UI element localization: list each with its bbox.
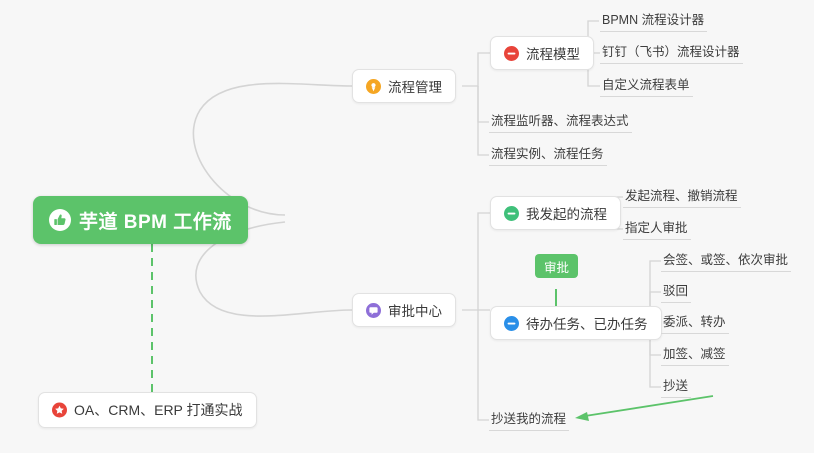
minus-circle-icon: [504, 46, 519, 61]
leaf-reject[interactable]: 驳回: [661, 281, 691, 303]
minus-circle-icon: [504, 206, 519, 221]
leaf-bpmn-designer[interactable]: BPMN 流程设计器: [600, 10, 707, 32]
node-label: 待办任务、已办任务: [526, 313, 648, 333]
branch-label: 流程管理: [388, 76, 442, 96]
leaf-dingtalk-designer[interactable]: 钉钉（飞书）流程设计器: [600, 42, 743, 64]
leaf-cc-to-me[interactable]: 抄送我的流程: [489, 409, 569, 431]
thumbs-up-icon: [49, 209, 71, 231]
leaf-assign-approver[interactable]: 指定人审批: [623, 218, 691, 240]
mindmap-canvas: 芋道 BPM 工作流 流程管理 流程模型 BPMN 流程设计器 钉钉（飞书）流程…: [0, 0, 814, 453]
chat-bubble-icon: [366, 303, 381, 318]
location-pin-icon: [366, 79, 381, 94]
node-label: 流程模型: [526, 43, 580, 63]
annotation-integration-card[interactable]: OA、CRM、ERP 打通实战: [38, 392, 257, 428]
branch-node-process-management[interactable]: 流程管理: [352, 69, 456, 103]
root-node[interactable]: 芋道 BPM 工作流: [33, 196, 248, 244]
annotation-approval-pill: 审批: [535, 254, 578, 278]
branch-node-approval-center[interactable]: 审批中心: [352, 293, 456, 327]
star-circle-icon: [52, 403, 67, 418]
root-label: 芋道 BPM 工作流: [79, 207, 232, 234]
node-process-model[interactable]: 流程模型: [490, 36, 594, 70]
leaf-start-cancel-process[interactable]: 发起流程、撤销流程: [623, 186, 741, 208]
node-todo-done-tasks[interactable]: 待办任务、已办任务: [490, 306, 662, 340]
node-label: 我发起的流程: [526, 203, 607, 223]
leaf-add-remove-sign[interactable]: 加签、减签: [661, 344, 729, 366]
leaf-instance-task[interactable]: 流程实例、流程任务: [489, 144, 607, 166]
leaf-custom-form[interactable]: 自定义流程表单: [600, 75, 693, 97]
branch-label: 审批中心: [388, 300, 442, 320]
node-my-started-process[interactable]: 我发起的流程: [490, 196, 621, 230]
leaf-countersign[interactable]: 会签、或签、依次审批: [661, 250, 791, 272]
leaf-cc[interactable]: 抄送: [661, 376, 691, 398]
leaf-listener-expression[interactable]: 流程监听器、流程表达式: [489, 111, 632, 133]
leaf-delegate-transfer[interactable]: 委派、转办: [661, 312, 729, 334]
minus-circle-icon: [504, 316, 519, 331]
